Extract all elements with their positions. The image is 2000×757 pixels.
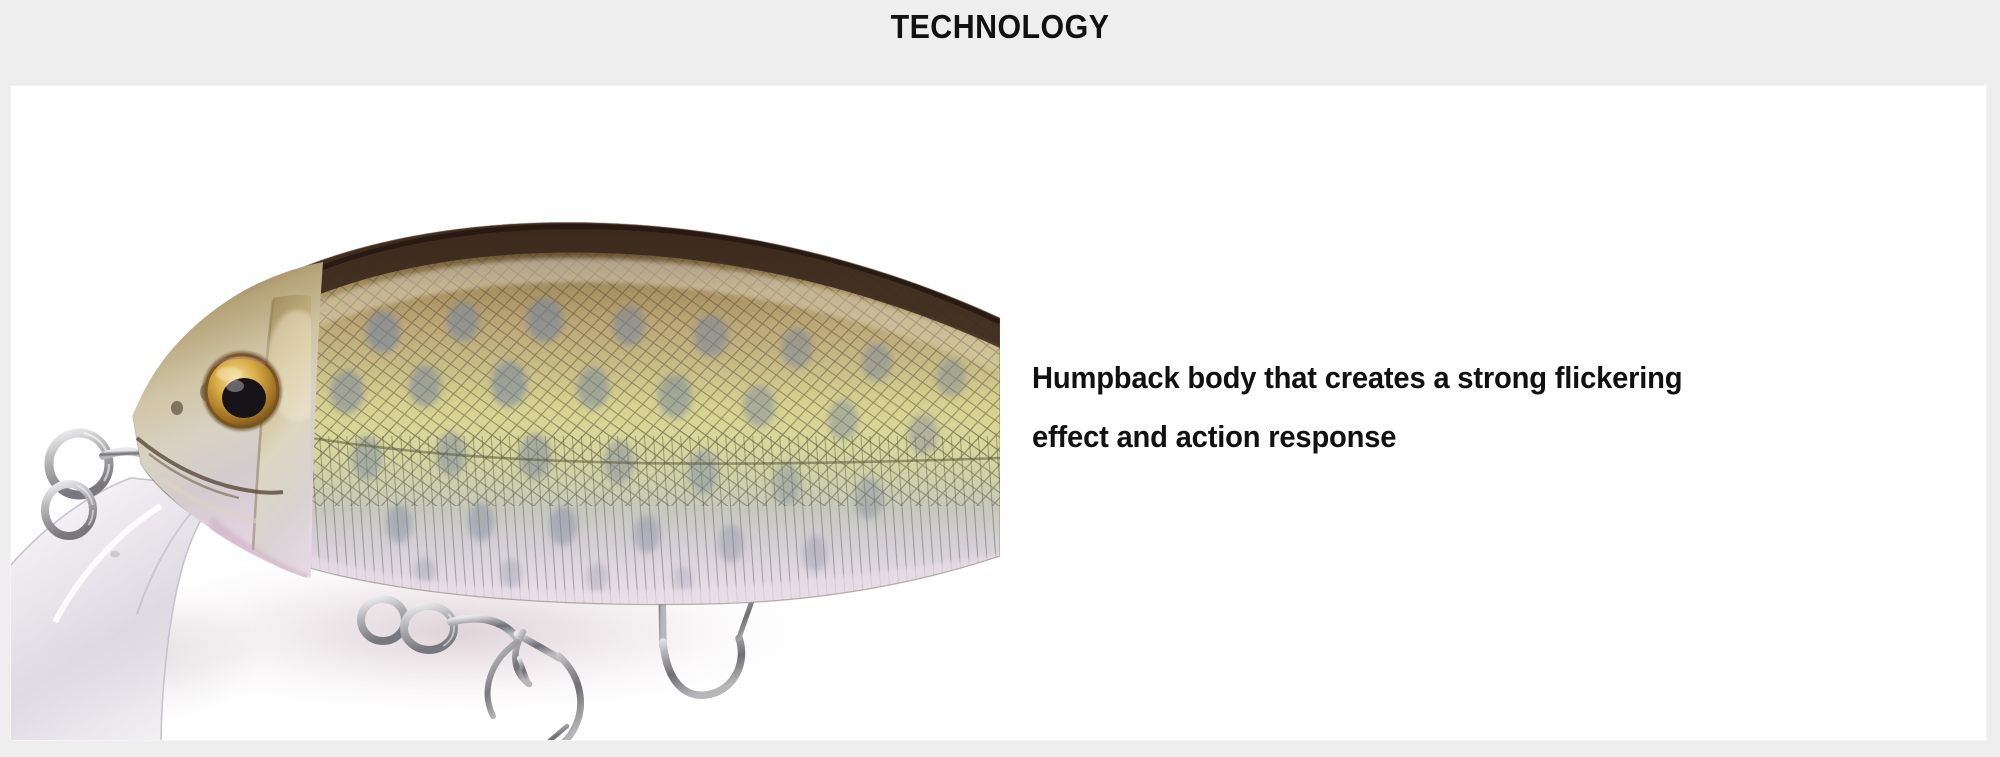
technology-section: TECHNOLOGY xyxy=(0,0,2000,757)
feature-card: Humpback body that creates a strong flic… xyxy=(11,86,1986,740)
feature-description: Humpback body that creates a strong flic… xyxy=(1032,348,1912,466)
lure-illustration xyxy=(11,86,1000,740)
belly-treble-hook xyxy=(361,599,581,740)
lure-stage xyxy=(11,86,1000,740)
lure-photo xyxy=(11,86,1000,740)
page-title: TECHNOLOGY xyxy=(80,8,1920,46)
feature-description-line-1: Humpback body that creates a strong flic… xyxy=(1032,348,1859,407)
gold-eye xyxy=(202,351,282,431)
feature-description-line-2: effect and action response xyxy=(1032,407,1859,466)
